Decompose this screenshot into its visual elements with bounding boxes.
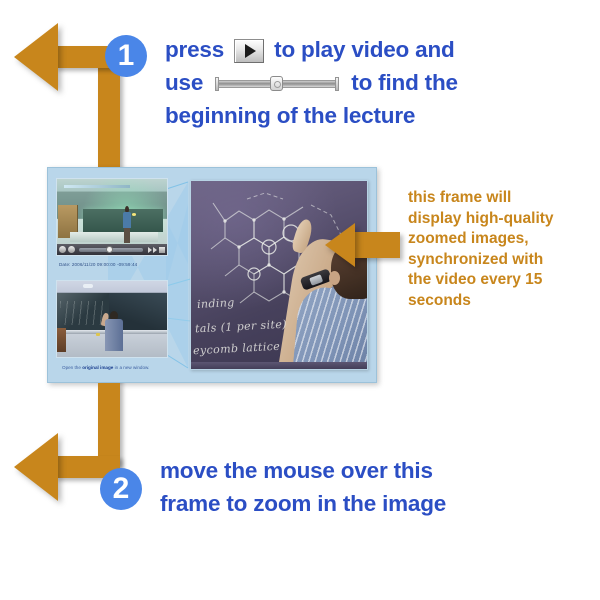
arrow-left-icon	[14, 23, 58, 91]
step1-line1: press to play video and	[165, 33, 458, 66]
step1-line2: use to find the	[165, 66, 458, 99]
ceiling-light	[64, 185, 130, 188]
step1-line3: beginning of the lecture	[165, 99, 458, 132]
zoom-frame-chalk-ledge	[191, 362, 367, 369]
step1-instruction-text: press to play video and use to find the …	[165, 33, 458, 132]
lecturer-legs	[124, 228, 130, 244]
arrow-left-icon	[325, 223, 355, 267]
time-slider-icon[interactable]	[215, 74, 339, 94]
video-extra-controls[interactable]	[146, 247, 165, 253]
video-player-panel[interactable]: Date: 2006/11/20 09:00:00 -09:59:44 Open…	[47, 167, 377, 383]
lecturer-ear	[329, 271, 340, 285]
rewind-icon[interactable]	[148, 247, 152, 253]
step1-line2-after: to find the	[351, 70, 458, 95]
frame-callout-arrow-stem	[355, 232, 400, 258]
zoom-frame-annotation: this frame will display high-quality zoo…	[408, 188, 554, 311]
annotation-line-4: synchronized with	[408, 250, 554, 271]
slider-end-left	[215, 77, 219, 91]
lecturer-figure-close	[105, 311, 123, 351]
blackboard-close-image	[57, 281, 167, 357]
chalk-writing-trace	[60, 301, 104, 325]
step1-line1-after: to play video and	[274, 37, 454, 62]
video-date-label: Date: 2006/11/20 09:00:00 -09:59:44	[59, 262, 137, 267]
original-link-prefix: Open the	[62, 365, 82, 370]
annotation-line-5: the video every 15	[408, 270, 554, 291]
step2-arrow-stem	[98, 383, 120, 465]
original-image-link[interactable]: original image	[82, 365, 113, 370]
video-progress-slider[interactable]	[79, 248, 143, 252]
slider-end-right	[335, 77, 339, 91]
video-control-bar[interactable]	[57, 244, 167, 255]
play-control-icon[interactable]	[59, 246, 66, 253]
lecturer-figure	[123, 212, 131, 242]
ceiling-lamp	[83, 284, 93, 288]
lecturer-torso-close	[105, 319, 123, 351]
front-desk	[70, 232, 158, 242]
chalk-handwriting-line-1: inding	[197, 296, 235, 311]
annotation-line-3: zoomed images,	[408, 229, 554, 250]
play-button-icon[interactable]	[234, 39, 264, 63]
forward-icon[interactable]	[153, 247, 157, 253]
slider-knob[interactable]	[270, 76, 283, 91]
chalk-box	[96, 333, 100, 336]
step2-instruction-text: move the mouse over this frame to zoom i…	[160, 454, 446, 520]
annotated-screenshot: 1 press to play video and use to find th…	[0, 0, 600, 600]
step1-line1-before: press	[165, 37, 224, 62]
arrow-left-icon	[14, 433, 58, 501]
high-quality-zoom-frame[interactable]: inding tals (1 per site) eycomb lattice	[190, 180, 368, 370]
fullscreen-icon[interactable]	[159, 247, 165, 253]
step1-line2-before: use	[165, 70, 203, 95]
annotation-line-2: display high-quality	[408, 209, 554, 230]
step2-number-badge: 2	[100, 468, 142, 510]
lecturer-torso	[123, 212, 131, 228]
video-thumbnail-wide-shot[interactable]	[56, 178, 168, 256]
step2-line1: move the mouse over this	[160, 454, 446, 487]
annotation-line-1: this frame will	[408, 188, 554, 209]
step1-number-badge: 1	[105, 35, 147, 77]
pause-control-icon[interactable]	[68, 246, 75, 253]
side-cabinet	[57, 328, 66, 352]
annotation-line-6: seconds	[408, 291, 554, 312]
original-image-link-row[interactable]: Open the original image in a new window.	[62, 365, 149, 370]
original-link-suffix: in a new window.	[113, 365, 149, 370]
video-progress-handle[interactable]	[106, 246, 113, 253]
video-thumbnail-close-shot[interactable]	[56, 280, 168, 358]
step2-line2: frame to zoom in the image	[160, 487, 446, 520]
